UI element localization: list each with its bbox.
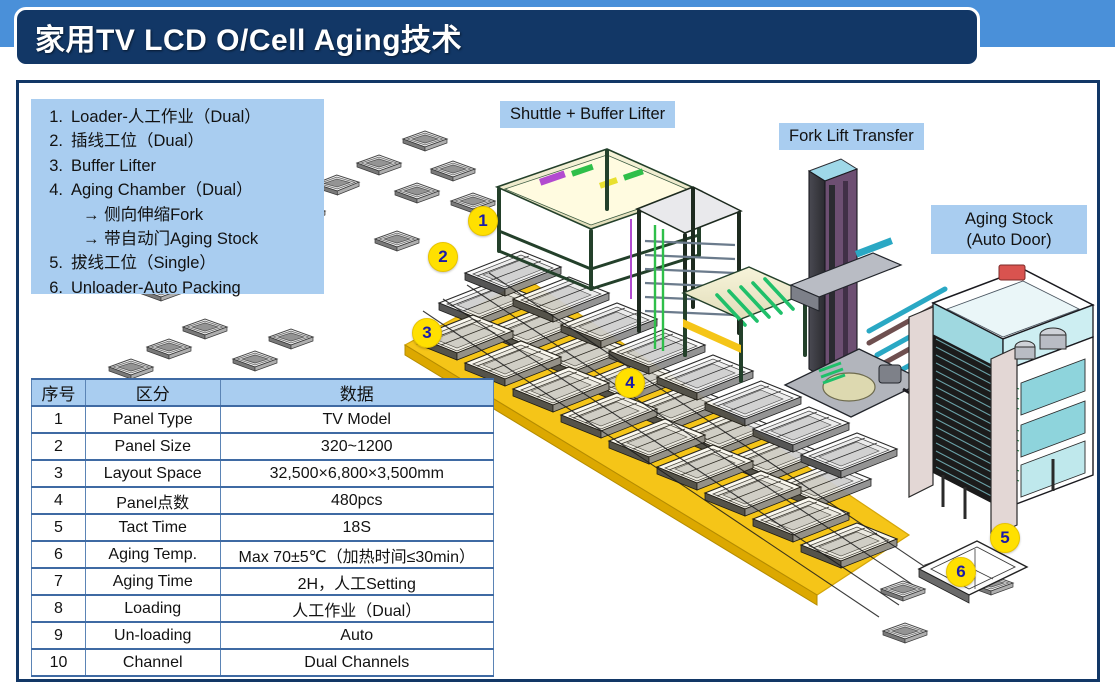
list-item: 3. Buffer Lifter — [37, 154, 320, 178]
cell-data: 人工作业（Dual） — [220, 595, 494, 622]
cell-div: Panel Type — [85, 406, 220, 433]
cell-data: TV Model — [220, 406, 494, 433]
cell-data: 2H，人工Setting — [220, 568, 494, 595]
callout-aging-stock-line2: (Auto Door) — [939, 230, 1079, 251]
cell-no: 6 — [32, 541, 86, 568]
list-item-number: 2. — [37, 129, 71, 153]
step-marker-5: 5 — [990, 523, 1020, 553]
cell-no: 5 — [32, 514, 86, 541]
callout-shuttle-buffer-lifter: Shuttle + Buffer Lifter — [500, 101, 675, 128]
table-row: 5 Tact Time 18S — [32, 514, 494, 541]
step-marker-4: 4 — [615, 368, 645, 398]
table-row: 9 Un-loading Auto — [32, 622, 494, 649]
list-item-number: 3. — [37, 154, 71, 178]
callout-aging-stock-line1: Aging Stock — [939, 209, 1079, 230]
list-item: 5. 拔线工位（Single） — [37, 251, 320, 275]
table-row: 7 Aging Time 2H，人工Setting — [32, 568, 494, 595]
cell-no: 8 — [32, 595, 86, 622]
table-header-row: 序号 区分 数据 — [32, 379, 494, 406]
cell-div: Channel — [85, 649, 220, 676]
process-step-list: 1. Loader-人工作业（Dual） 2. 插线工位（Dual） 3. Bu… — [31, 99, 324, 294]
cell-div: Aging Temp. — [85, 541, 220, 568]
cell-data: Auto — [220, 622, 494, 649]
table-row: 6 Aging Temp. Max 70±5℃（加热时间≤30min） — [32, 541, 494, 568]
table-row: 1 Panel Type TV Model — [32, 406, 494, 433]
list-item-label: Loader-人工作业（Dual） — [71, 105, 261, 129]
list-item-label: Buffer Lifter — [71, 154, 156, 178]
list-item: 4. Aging Chamber（Dual） — [37, 178, 320, 202]
list-item-number: 4. — [37, 178, 71, 202]
list-item-label: Aging Chamber（Dual） — [71, 178, 253, 202]
list-sub-item: → 带自动门Aging Stock — [37, 227, 320, 251]
cell-no: 4 — [32, 487, 86, 514]
table-row: 8 Loading 人工作业（Dual） — [32, 595, 494, 622]
table-row: 2 Panel Size 320~1200 — [32, 433, 494, 460]
step-marker-6: 6 — [946, 557, 976, 587]
step-marker-2: 2 — [428, 242, 458, 272]
cell-data: Max 70±5℃（加热时间≤30min） — [220, 541, 494, 568]
cell-data: 32,500×6,800×3,500mm — [220, 460, 494, 487]
list-item-label: Unloader-Auto Packing — [71, 276, 241, 300]
cell-data: Dual Channels — [220, 649, 494, 676]
step-marker-3: 3 — [412, 318, 442, 348]
cell-div: Panel点数 — [85, 487, 220, 514]
column-header-data: 数据 — [220, 379, 494, 406]
list-item: 6. Unloader-Auto Packing — [37, 276, 320, 300]
table-row: 4 Panel点数 480pcs — [32, 487, 494, 514]
cell-div: Layout Space — [85, 460, 220, 487]
cell-div: Un-loading — [85, 622, 220, 649]
callout-aging-stock: Aging Stock (Auto Door) — [931, 205, 1087, 254]
column-header-div: 区分 — [85, 379, 220, 406]
cell-no: 9 — [32, 622, 86, 649]
cell-no: 1 — [32, 406, 86, 433]
list-item-number: 5. — [37, 251, 71, 275]
cell-div: Loading — [85, 595, 220, 622]
cell-div: Tact Time — [85, 514, 220, 541]
cell-no: 7 — [32, 568, 86, 595]
slide-content-frame: 1. Loader-人工作业（Dual） 2. 插线工位（Dual） 3. Bu… — [16, 80, 1100, 682]
cell-data: 18S — [220, 514, 494, 541]
table-row: 10 Channel Dual Channels — [32, 649, 494, 676]
cell-data: 480pcs — [220, 487, 494, 514]
cell-div: Panel Size — [85, 433, 220, 460]
list-item-number: 6. — [37, 276, 71, 300]
callout-fork-lift-transfer: Fork Lift Transfer — [779, 123, 924, 150]
cell-no: 2 — [32, 433, 86, 460]
step-marker-1: 1 — [468, 206, 498, 236]
list-item: 1. Loader-人工作业（Dual） — [37, 105, 320, 129]
list-item-number: 1. — [37, 105, 71, 129]
cell-no: 10 — [32, 649, 86, 676]
list-item: 2. 插线工位（Dual） — [37, 129, 320, 153]
table-row: 3 Layout Space 32,500×6,800×3,500mm — [32, 460, 494, 487]
cell-data: 320~1200 — [220, 433, 494, 460]
cell-div: Aging Time — [85, 568, 220, 595]
list-item-label: 拔线工位（Single） — [71, 251, 216, 275]
list-sub-item: → 侧向伸缩Fork — [37, 203, 320, 227]
list-item-label: 插线工位（Dual） — [71, 129, 204, 153]
spec-table: 序号 区分 数据 1 Panel Type TV Model 2 Panel S… — [31, 378, 494, 677]
page-title: 家用TV LCD O/Cell Aging技术 — [35, 15, 462, 59]
slide-title-bar: 家用TV LCD O/Cell Aging技术 — [14, 7, 980, 67]
column-header-no: 序号 — [32, 379, 86, 406]
cell-no: 3 — [32, 460, 86, 487]
